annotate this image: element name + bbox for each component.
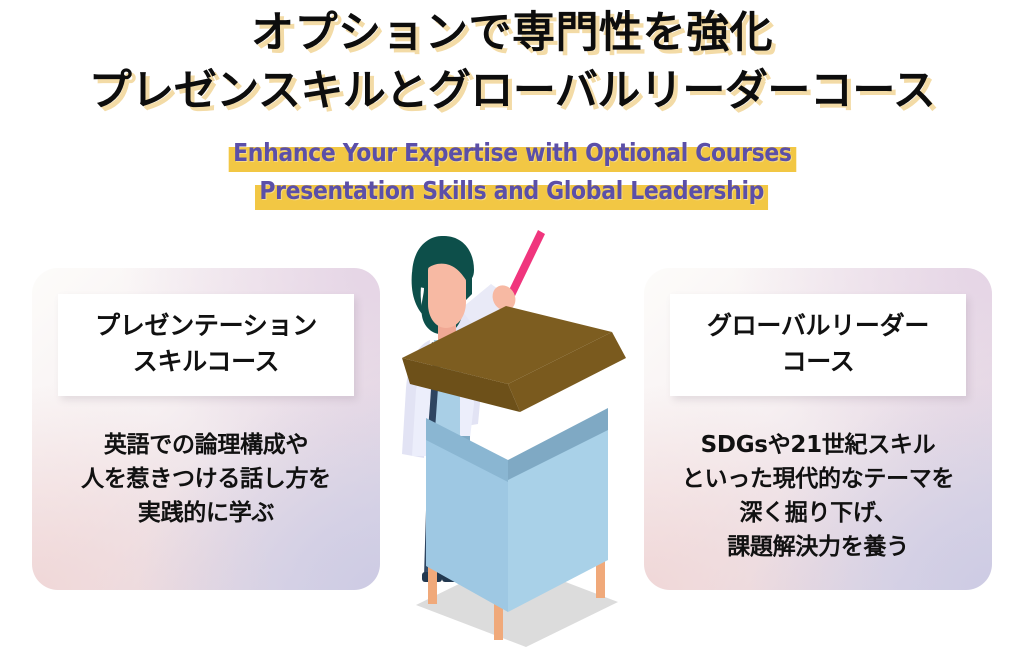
course-card-description-line-2: 人を惹きつける話し方を <box>42 462 370 496</box>
podium-icon <box>402 306 626 640</box>
course-card-description-line-1: 英語での論理構成や <box>42 428 370 462</box>
course-card-description-line-4: 課題解決力を養う <box>654 530 982 564</box>
course-card-title-line-2: スキルコース <box>64 344 348 380</box>
page-subtitle-line-1: Enhance Your Expertise with Optional Cou… <box>228 136 795 172</box>
page-title-line-2: プレゼンスキルとグローバルリーダーコース <box>0 62 1024 120</box>
page-subtitle: Enhance Your Expertise with Optional Cou… <box>0 136 1024 212</box>
course-card-title-line-1: グローバルリーダー <box>676 308 960 344</box>
course-card-global-leadership[interactable]: グローバルリーダー コース SDGsや21世紀スキル といった現代的なテーマを … <box>644 268 992 590</box>
course-card-title-line-2: コース <box>676 344 960 380</box>
course-card-description: 英語での論理構成や 人を惹きつける話し方を 実践的に学ぶ <box>42 428 370 530</box>
pointer-stick-icon <box>508 230 545 296</box>
course-card-description-line-2: といった現代的なテーマを <box>654 462 982 496</box>
course-card-description-line-3: 実践的に学ぶ <box>42 496 370 530</box>
course-card-presentation-skills[interactable]: プレゼンテーション スキルコース 英語での論理構成や 人を惹きつける話し方を 実… <box>32 268 380 590</box>
presenter-illustration <box>390 224 640 649</box>
page-title-line-1: オプションで専門性を強化 <box>0 4 1024 62</box>
page-subtitle-row-1: Enhance Your Expertise with Optional Cou… <box>0 136 1024 174</box>
page-subtitle-line-2: Presentation Skills and Global Leadershi… <box>255 174 768 210</box>
course-card-title-line-1: プレゼンテーション <box>64 308 348 344</box>
course-card-title-box: プレゼンテーション スキルコース <box>58 294 354 396</box>
course-card-description-line-1: SDGsや21世紀スキル <box>654 428 982 462</box>
slide-canvas: オプションで専門性を強化 プレゼンスキルとグローバルリーダーコース Enhanc… <box>0 0 1024 659</box>
course-card-description-line-3: 深く掘り下げ、 <box>654 496 982 530</box>
page-subtitle-row-2: Presentation Skills and Global Leadershi… <box>0 174 1024 212</box>
course-card-title-box: グローバルリーダー コース <box>670 294 966 396</box>
page-title: オプションで専門性を強化 プレゼンスキルとグローバルリーダーコース <box>0 4 1024 120</box>
course-card-description: SDGsや21世紀スキル といった現代的なテーマを 深く掘り下げ、 課題解決力を… <box>654 428 982 564</box>
